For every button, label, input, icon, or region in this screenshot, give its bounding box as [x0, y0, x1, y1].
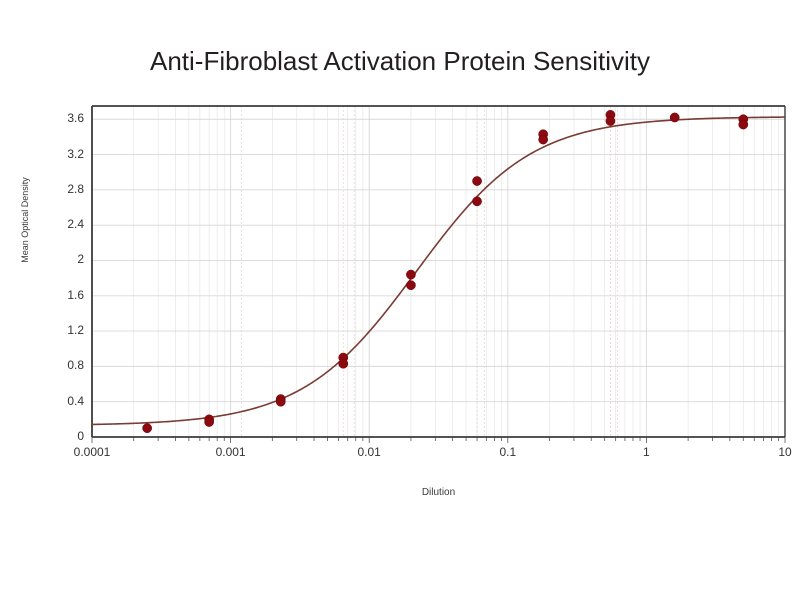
y-tick-label: 1.6 [42, 288, 84, 302]
y-tick-label: 2.8 [42, 182, 84, 196]
y-tick-label: 2.4 [42, 217, 84, 231]
x-tick-label: 10 [745, 445, 800, 459]
data-point [670, 113, 679, 122]
major-gridlines-x [92, 106, 785, 437]
x-tick-label: 0.0001 [52, 445, 132, 459]
plot-frame [92, 106, 785, 437]
x-tick-label: 0.01 [329, 445, 409, 459]
fit-curve [92, 117, 785, 424]
y-tick-label: 2 [42, 252, 84, 266]
data-point [205, 417, 214, 426]
x-tick-label: 0.1 [468, 445, 548, 459]
data-point [539, 135, 548, 144]
y-tick-label: 3.2 [42, 147, 84, 161]
x-tick-label: 0.001 [191, 445, 271, 459]
data-point [472, 197, 481, 206]
data-point [472, 176, 481, 185]
y-tick-label: 1.2 [42, 323, 84, 337]
data-point [406, 270, 415, 279]
x-tick-label: 1 [606, 445, 686, 459]
plot-area [0, 0, 800, 600]
y-tick-label: 0 [42, 429, 84, 443]
chart-figure: Anti-Fibroblast Activation Protein Sensi… [0, 0, 800, 600]
data-point [339, 359, 348, 368]
data-point [739, 120, 748, 129]
y-tick-label: 0.8 [42, 358, 84, 372]
major-gridlines-y [92, 119, 785, 401]
y-tick-label: 0.4 [42, 394, 84, 408]
data-point-series [143, 110, 748, 433]
data-point [406, 281, 415, 290]
data-point [606, 116, 615, 125]
y-tick-label: 3.6 [42, 111, 84, 125]
data-point [143, 424, 152, 433]
data-point [276, 397, 285, 406]
